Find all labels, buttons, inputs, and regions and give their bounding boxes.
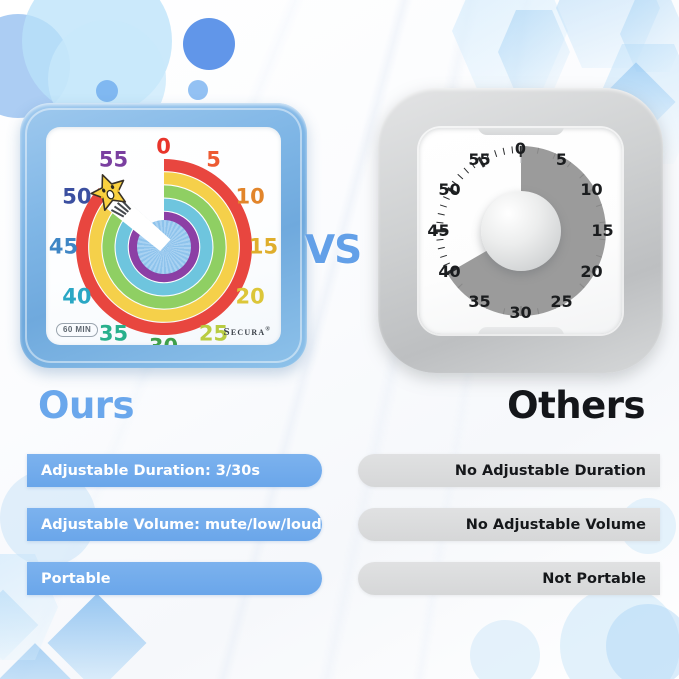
ours-timer-face: 0510152025303540455055 60 MIN Secura® [46,127,281,345]
others-timer-product: 0510152025303540455055 [378,88,663,373]
ours-dial-number-55: 55 [99,150,128,171]
others-timer-top-notch [478,128,564,135]
ours-dial-number-15: 15 [249,237,278,258]
others-dial-number-45: 45 [427,223,449,239]
others-dial-number-35: 35 [468,294,490,310]
others-heading: Others [507,384,645,427]
ours-dial-number-30: 30 [149,337,178,346]
background-circle-4 [188,80,208,100]
others-dial-number-0: 0 [515,141,526,157]
others-dial-number-50: 50 [438,182,460,198]
others-dial-number-30: 30 [509,305,531,321]
ours-feature-bar-2: Portable [27,562,322,595]
product-comparison-image: 0510152025303540455055 60 MIN Secura® 05… [0,0,679,679]
others-timer-face: 0510152025303540455055 [419,128,622,334]
others-feature-bar-0: No Adjustable Duration [358,454,660,487]
ours-dial-number-50: 50 [62,187,91,208]
ours-timer-product: 0510152025303540455055 60 MIN Secura® [20,103,307,368]
brand-registered-mark: ® [265,326,271,332]
background-circle-5 [96,80,118,102]
ours-timer-dial [71,154,257,340]
others-timer-dial [433,143,609,319]
ours-duration-badge: 60 MIN [56,323,98,337]
others-dial-number-15: 15 [591,223,613,239]
others-timer-bottom-notch [478,327,564,334]
ours-dial-number-20: 20 [235,287,264,308]
others-feature-bar-2: Not Portable [358,562,660,595]
ours-dial-number-40: 40 [62,287,91,308]
others-tick-59 [511,146,513,153]
ours-heading: Ours [38,384,134,427]
others-dial-number-25: 25 [550,294,572,310]
ours-dial-number-5: 5 [206,150,221,171]
ours-dial-number-0: 0 [156,137,171,158]
ours-dial-number-35: 35 [99,323,128,344]
others-dial-number-10: 10 [580,182,602,198]
background-circle-3 [183,18,235,70]
others-dial-number-5: 5 [556,152,567,168]
ours-dial-number-10: 10 [235,187,264,208]
brand-text: Secura [224,326,266,338]
vs-label: VS [305,228,361,273]
others-dial-number-40: 40 [438,264,460,280]
ours-feature-bar-0: Adjustable Duration: 3/30s [27,454,322,487]
ours-dial-number-45: 45 [49,237,78,258]
others-dial-number-55: 55 [468,152,490,168]
others-timer-knob[interactable] [481,191,561,271]
others-dial-number-20: 20 [580,264,602,280]
ours-brand-logo: Secura® [224,326,271,338]
others-feature-bar-1: No Adjustable Volume [358,508,660,541]
ours-feature-bar-1: Adjustable Volume: mute/low/loud [27,508,322,541]
